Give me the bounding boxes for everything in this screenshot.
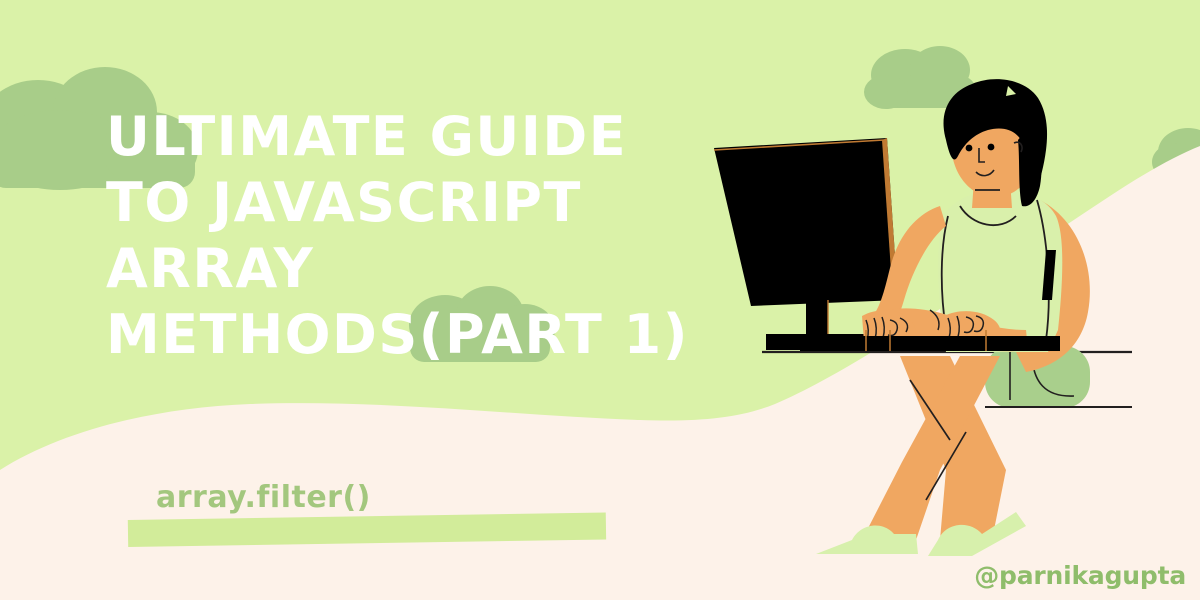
- subtitle-block: array.filter(): [128, 480, 371, 515]
- title-line-2: TO JAVASCRIPT: [106, 170, 726, 236]
- person-eye-right: [988, 144, 995, 151]
- person-eye-left: [966, 145, 973, 152]
- page-title: ULTIMATE GUIDE TO JAVASCRIPT ARRAY METHO…: [106, 104, 726, 368]
- title-line-3: ARRAY: [106, 236, 726, 302]
- subtitle-label: array.filter(): [156, 480, 371, 515]
- poster-canvas: ULTIMATE GUIDE TO JAVASCRIPT ARRAY METHO…: [0, 0, 1200, 600]
- author-handle: @parnikagupta: [974, 561, 1186, 590]
- person-neck: [972, 180, 1012, 208]
- title-line-4: METHODS(PART 1): [106, 302, 726, 368]
- title-line-1: ULTIMATE GUIDE: [106, 104, 726, 170]
